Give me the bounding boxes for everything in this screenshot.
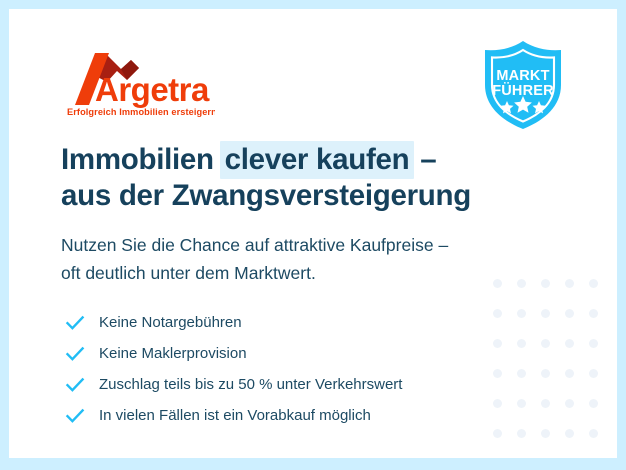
logo-tagline: Erfolgreich Immobilien ersteigern <box>67 107 215 117</box>
promo-frame: Argetra Erfolgreich Immobilien ersteiger… <box>0 0 626 470</box>
badge-line-1: MARKT <box>496 68 549 84</box>
promo-card: Argetra Erfolgreich Immobilien ersteiger… <box>9 9 617 458</box>
check-icon <box>65 375 85 395</box>
list-item: Keine Notargebühren <box>65 307 535 338</box>
headline-line-2: aus der Zwangsversteigerung <box>61 178 581 214</box>
headline-line-1: Immobilien clever kaufen – <box>61 142 581 178</box>
list-item: Zuschlag teils bis zu 50 % unter Verkehr… <box>65 369 535 400</box>
benefit-label: In vielen Fällen ist ein Vorabkauf mögli… <box>99 406 371 426</box>
headline: Immobilien clever kaufen – aus der Zwang… <box>61 142 581 214</box>
dot <box>589 429 598 438</box>
logo-wordmark: Argetra <box>95 71 210 108</box>
dot <box>565 339 574 348</box>
dot <box>541 369 550 378</box>
dot <box>565 369 574 378</box>
subheading-line-1: Nutzen Sie die Chance auf attraktive Kau… <box>61 231 581 259</box>
dot <box>589 339 598 348</box>
dot <box>565 429 574 438</box>
dot <box>589 399 598 408</box>
headline-highlight: clever kaufen <box>220 141 415 179</box>
benefit-label: Keine Notargebühren <box>99 313 242 333</box>
dot <box>541 399 550 408</box>
check-icon <box>65 344 85 364</box>
dot <box>565 399 574 408</box>
check-icon <box>65 406 85 426</box>
dot <box>565 309 574 318</box>
subheading: Nutzen Sie die Chance auf attraktive Kau… <box>61 231 581 287</box>
argetra-logo: Argetra Erfolgreich Immobilien ersteiger… <box>65 47 215 117</box>
subheading-line-2: oft deutlich unter dem Marktwert. <box>61 259 581 287</box>
headline-prefix: Immobilien <box>61 143 222 176</box>
headline-suffix: – <box>412 143 436 176</box>
dot <box>541 309 550 318</box>
dot <box>589 279 598 288</box>
dot <box>541 339 550 348</box>
check-icon <box>65 313 85 333</box>
dot <box>589 309 598 318</box>
dot <box>589 369 598 378</box>
dot <box>541 429 550 438</box>
list-item: In vielen Fällen ist ein Vorabkauf mögli… <box>65 400 535 431</box>
benefit-list: Keine Notargebühren Keine Maklerprovisio… <box>65 307 535 431</box>
list-item: Keine Maklerprovision <box>65 338 535 369</box>
benefit-label: Keine Maklerprovision <box>99 344 247 364</box>
benefit-label: Zuschlag teils bis zu 50 % unter Verkehr… <box>99 375 402 395</box>
markt-fuehrer-badge: MARKT FÜHRER <box>481 39 565 131</box>
